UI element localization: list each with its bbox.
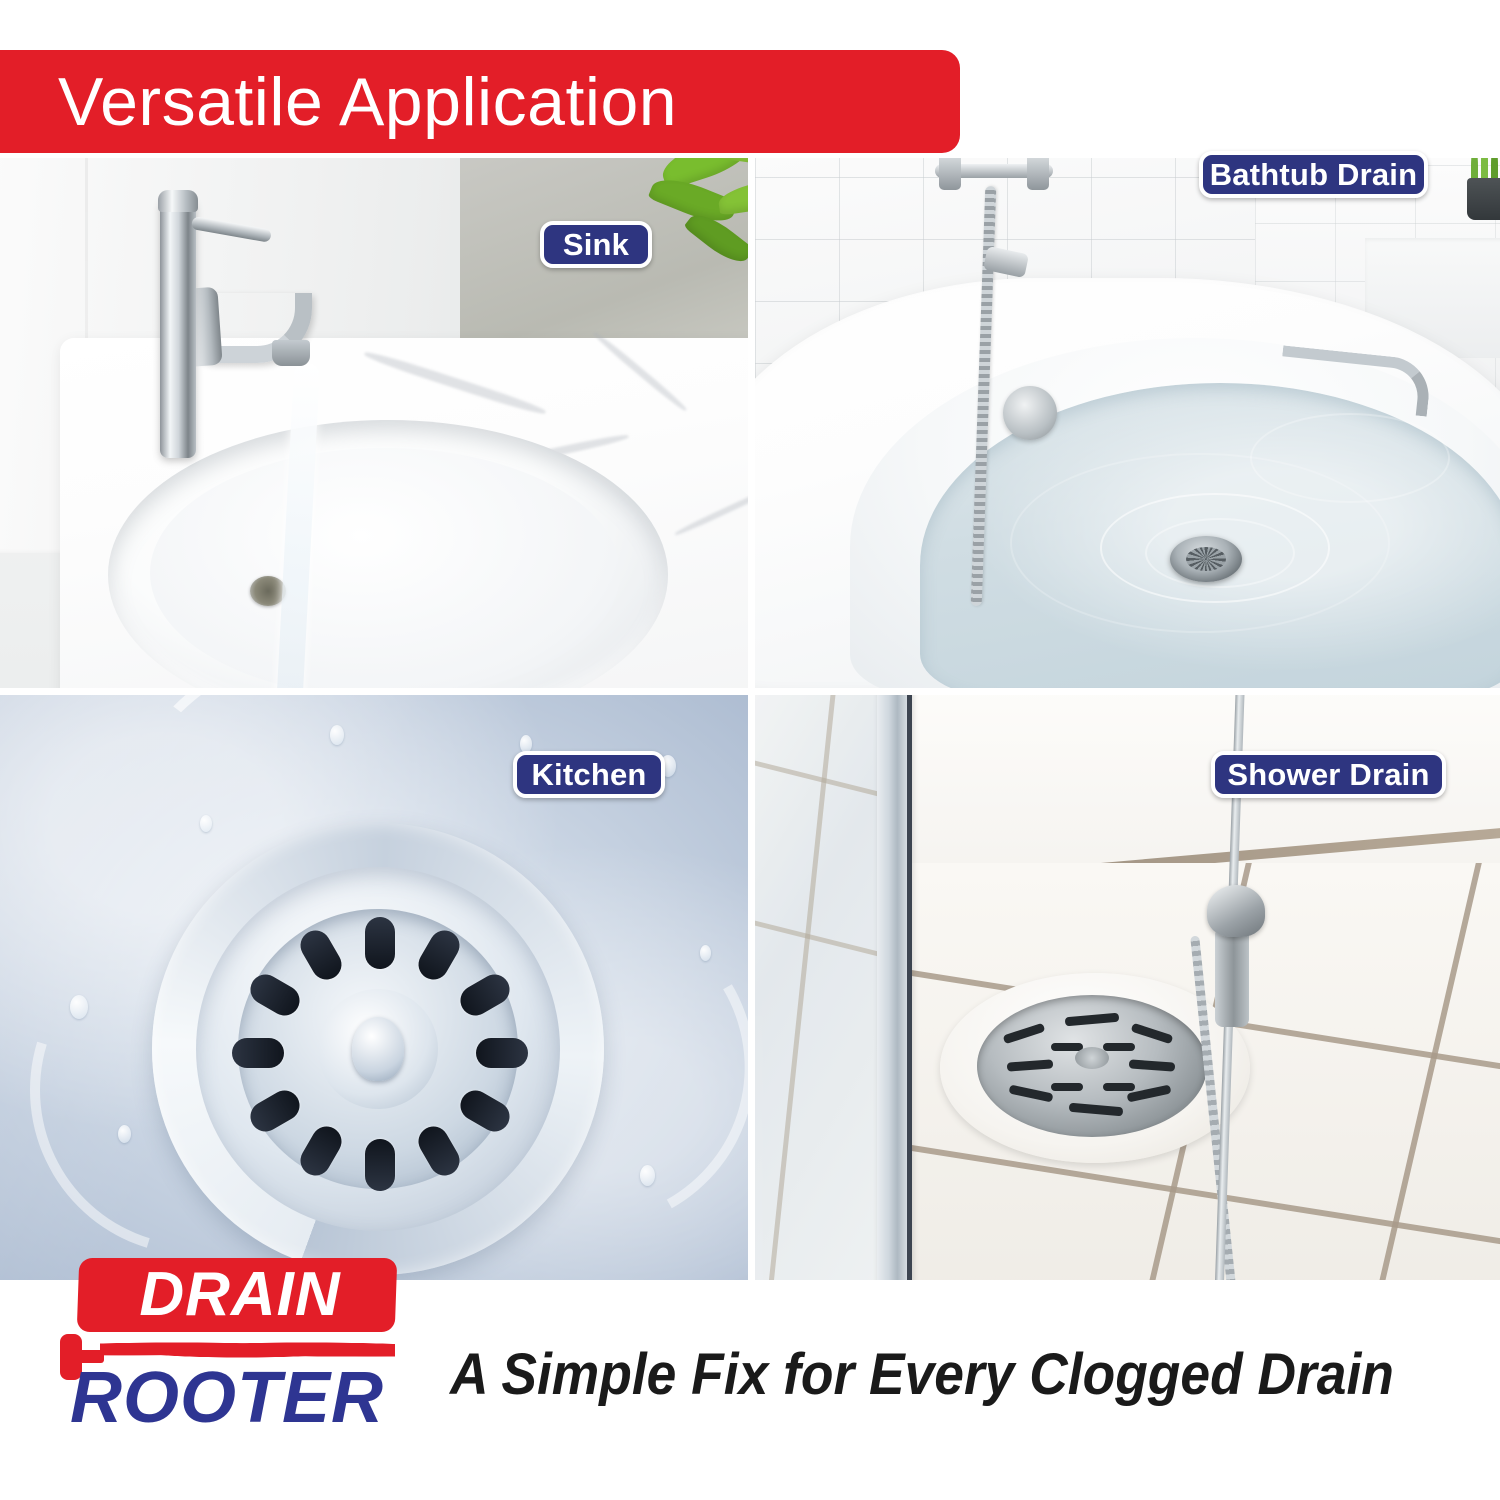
faucet-body	[160, 198, 196, 458]
application-photo-grid	[0, 158, 1500, 1280]
badge-sink: Sink	[540, 221, 652, 268]
panel-bathtub-photo	[755, 158, 1500, 688]
shower-drain-center	[1075, 1047, 1109, 1069]
badge-kitchen-label: Kitchen	[531, 757, 646, 793]
houseplant-decor	[640, 158, 748, 363]
faucet-aerator-tip	[272, 340, 310, 366]
sink-overflow-hole	[250, 576, 286, 606]
shower-side-glass	[755, 695, 880, 1280]
strainer-center-knob	[352, 1017, 404, 1081]
faucet-cap	[158, 190, 198, 212]
brand-logo: DRAIN ROOTER	[60, 1258, 420, 1443]
badge-kitchen: Kitchen	[513, 751, 665, 798]
header-banner: Versatile Application	[0, 50, 960, 153]
sink-basin-inner	[150, 448, 620, 688]
badge-shower-drain: Shower Drain	[1211, 751, 1446, 798]
footer: DRAIN ROOTER A Simple Fix for Every Clog…	[0, 1280, 1500, 1500]
shower-holder-body	[1215, 927, 1249, 1027]
shower-wall-bracket	[1207, 885, 1265, 937]
footer-tagline: A Simple Fix for Every Clogged Drain	[450, 1335, 1388, 1415]
logo-drain-word: DRAIN	[90, 1262, 390, 1328]
page-title: Versatile Application	[58, 68, 677, 136]
badge-shower-label: Shower Drain	[1227, 757, 1429, 793]
bathtub-overflow-cover	[1003, 386, 1057, 440]
bathtub-drain-grate	[1170, 536, 1242, 582]
badge-bathtub-label: Bathtub Drain	[1210, 157, 1418, 193]
shower-door-frame	[877, 695, 911, 1280]
shower-door-edge	[907, 695, 912, 1280]
badge-bathtub-drain: Bathtub Drain	[1199, 151, 1428, 198]
product-infographic: Versatile Application Sink Bathtub Drain…	[0, 0, 1500, 1500]
badge-sink-label: Sink	[563, 227, 629, 263]
logo-rooter-word: ROOTER	[70, 1358, 420, 1438]
drain-snake-cable-icon	[100, 1342, 395, 1358]
bathtub-faucet	[935, 158, 1055, 206]
